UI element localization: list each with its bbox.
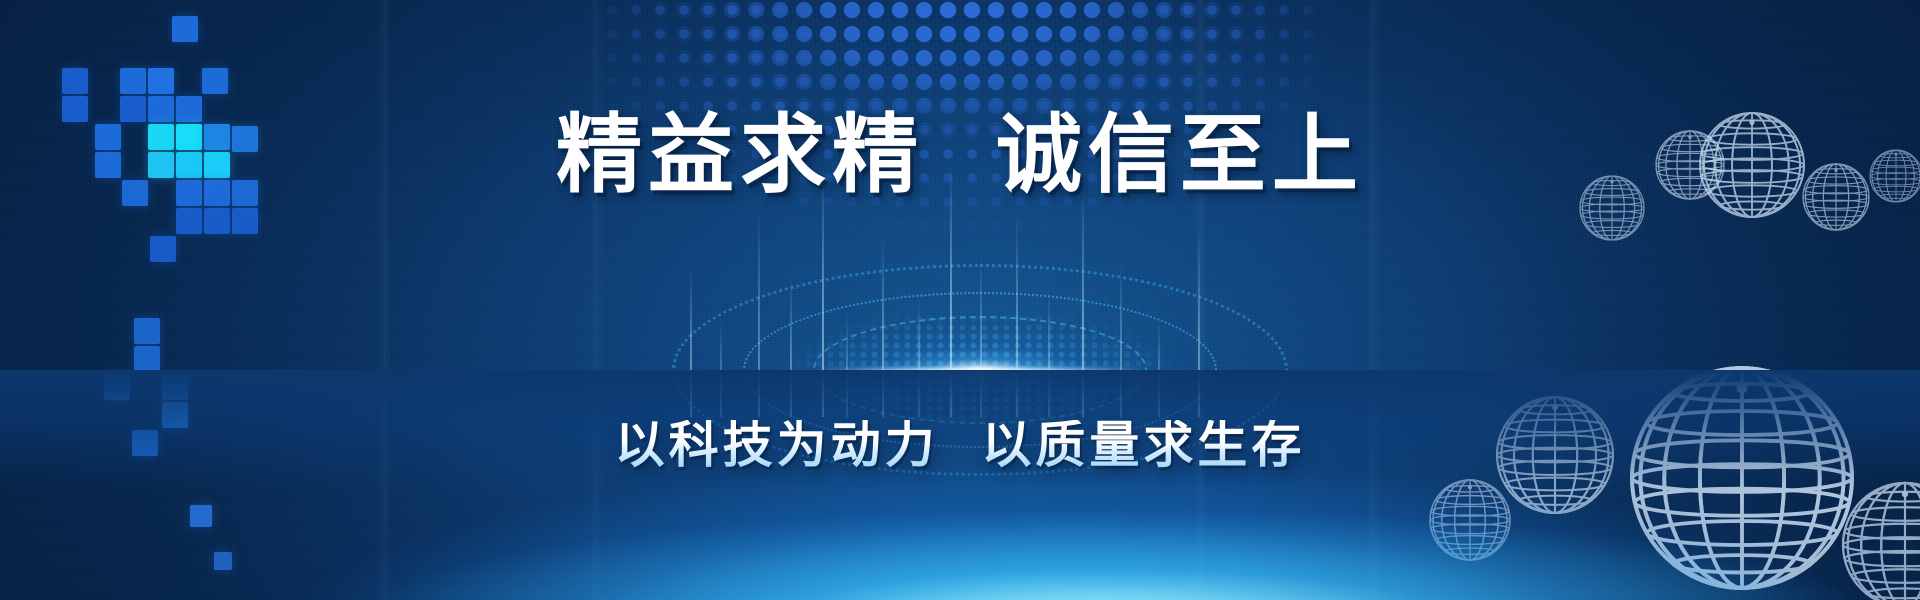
- mosaic-square: [202, 68, 228, 94]
- hero-banner: 精益求精 诚信至上 以科技为动力 以质量求生存: [0, 0, 1920, 600]
- mosaic-square: [148, 68, 174, 94]
- mosaic-square: [150, 236, 176, 262]
- mosaic-square: [134, 346, 160, 372]
- floor-bloom: [0, 480, 1920, 600]
- mosaic-square: [62, 68, 88, 94]
- mosaic-square: [120, 68, 146, 94]
- banner-subheadline: 以科技为动力 以质量求生存: [0, 420, 1920, 470]
- mosaic-square: [134, 318, 160, 344]
- perspective-grid-floor: [0, 370, 1920, 600]
- mosaic-square: [232, 208, 258, 234]
- mosaic-square: [176, 208, 202, 234]
- banner-headline: 精益求精 诚信至上: [0, 112, 1920, 198]
- mosaic-square: [172, 16, 198, 42]
- mosaic-square: [204, 208, 230, 234]
